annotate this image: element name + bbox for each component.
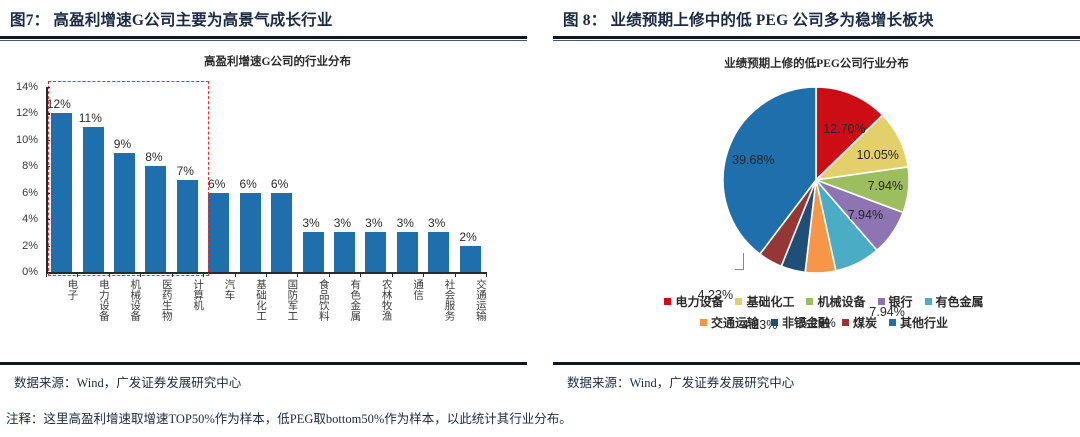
y-axis-tick: 8% (22, 160, 46, 172)
bar-rect (334, 232, 355, 272)
pie-chart: 12.70%10.05%7.94%7.94%7.94%5.29%4.23%4.2… (553, 75, 1080, 325)
figure-7-title-rule-thin (0, 40, 527, 41)
pie-value-label: 10.05% (857, 148, 899, 162)
bar-value-label: 9% (114, 137, 131, 151)
bar-rect (114, 153, 135, 272)
bar-value-label: 3% (334, 216, 351, 230)
bar-item: 2% (454, 87, 485, 272)
bar-item: 3% (329, 87, 360, 272)
legend-label: 非银金融 (782, 314, 830, 331)
x-axis-tick-mark (77, 272, 78, 277)
bar-rect (240, 193, 261, 272)
bar-item: 9% (109, 87, 140, 272)
x-axis-label: 农林牧渔 (360, 279, 391, 349)
figure-page: 图7： 高盈利增速G公司主要为高景气成长行业 高盈利增速G公司的行业分布 12%… (0, 0, 1080, 437)
bar-rect (208, 193, 229, 272)
bar-value-label: 6% (271, 177, 288, 191)
bar-item: 7% (172, 87, 203, 272)
x-axis-tick-mark (297, 272, 298, 277)
bar-item: 3% (423, 87, 454, 272)
x-axis-tick-mark (486, 272, 487, 277)
x-axis-label: 医药生物 (140, 279, 171, 349)
x-axis-label: 电力设备 (77, 279, 108, 349)
figure-8-title: 图 8： 业绩预期上修中的低 PEG 公司多为稳增长板块 (553, 0, 1080, 34)
legend-row: 交通运输非银金融煤炭其他行业 (609, 314, 1039, 331)
x-axis-label: 交通运输 (454, 279, 485, 349)
legend-row: 电力设备基础化工机械设备银行有色金属 (609, 293, 1039, 310)
figure-note: 注释：这里高盈利增速取增速TOP50%作为样本，低PEG取bottom50%作为… (6, 408, 572, 427)
pie-value-label: 7.94% (848, 208, 883, 222)
legend-item[interactable]: 基础化工 (735, 293, 794, 310)
legend-swatch (771, 319, 778, 326)
y-axis-tick: 6% (22, 187, 46, 199)
bar-chart-subtitle: 高盈利增速G公司的行业分布 (28, 53, 527, 69)
legend-item[interactable]: 非银金融 (771, 314, 830, 331)
x-axis-label: 机械设备 (109, 279, 140, 349)
bar-item: 6% (203, 87, 234, 272)
legend-item[interactable]: 银行 (878, 293, 913, 310)
x-axis-tick-mark (203, 272, 204, 277)
legend-swatch (889, 319, 896, 326)
legend-label: 交通运输 (711, 314, 759, 331)
pie-chart-svg (661, 77, 971, 287)
x-axis-tick-mark (423, 272, 424, 277)
bar-rect (271, 193, 292, 272)
y-axis-tick: 0% (22, 266, 46, 278)
x-axis-label: 国防军工 (266, 279, 297, 349)
legend-swatch (700, 319, 707, 326)
figure-8-title-rule-thin (553, 40, 1080, 41)
x-axis-tick-mark (109, 272, 110, 277)
pie-leader-line (735, 269, 744, 270)
legend-label: 银行 (889, 293, 913, 310)
figure-8-panel: 图 8： 业绩预期上修中的低 PEG 公司多为稳增长板块 业绩预期上修的低PEG… (553, 0, 1080, 437)
pie-value-label: 12.70% (823, 122, 865, 136)
bar-chart: 12%11%9%8%7%6%6%6%3%3%3%3%3%2% 电子电力设备机械设… (0, 79, 527, 349)
y-axis-tick: 12% (16, 107, 46, 119)
pie-value-label: 39.68% (732, 153, 774, 167)
bar-rect (365, 232, 386, 272)
figure-7-panel: 图7： 高盈利增速G公司主要为高景气成长行业 高盈利增速G公司的行业分布 12%… (0, 0, 527, 437)
pie-chart-legend: 电力设备基础化工机械设备银行有色金属交通运输非银金融煤炭其他行业 (609, 293, 1039, 335)
y-axis-tick: 10% (16, 134, 46, 146)
x-axis-label: 通信 (392, 279, 423, 349)
bar-rect (397, 232, 418, 272)
figure-8-title-rule-thick (553, 36, 1080, 39)
bar-value-label: 7% (177, 164, 194, 178)
bar-chart-plot-area: 12%11%9%8%7%6%6%6%3%3%3%3%3%2% (46, 87, 486, 272)
legend-label: 其他行业 (900, 314, 948, 331)
legend-swatch (842, 319, 849, 326)
bar-rect (428, 232, 449, 272)
legend-label: 电力设备 (675, 293, 723, 310)
bar-rect (83, 127, 104, 272)
legend-item[interactable]: 其他行业 (889, 314, 948, 331)
bar-item: 3% (360, 87, 391, 272)
legend-label: 基础化工 (746, 293, 794, 310)
bar-value-label: 6% (208, 177, 225, 191)
bar-value-label: 11% (79, 111, 102, 125)
bar-item: 8% (140, 87, 171, 272)
y-axis-tick: 4% (22, 213, 46, 225)
bar-rect (51, 113, 72, 272)
bar-rect (303, 232, 324, 272)
x-axis-tick-mark (392, 272, 393, 277)
x-axis-label: 有色金属 (329, 279, 360, 349)
figure-7-title-rule-thick (0, 36, 527, 39)
figure-8-source: 数据来源：Wind，广发证券发展研究中心 (567, 372, 794, 391)
x-axis-label: 社会服务 (423, 279, 454, 349)
x-axis-tick-mark (360, 272, 361, 277)
legend-item[interactable]: 机械设备 (806, 293, 865, 310)
x-axis-tick-mark (266, 272, 267, 277)
legend-swatch (878, 298, 885, 305)
x-axis-tick-mark (235, 272, 236, 277)
bar-rect (177, 180, 198, 273)
legend-swatch (664, 298, 671, 305)
legend-label: 机械设备 (817, 293, 865, 310)
x-axis-label: 汽车 (203, 279, 234, 349)
bar-value-label: 3% (428, 216, 445, 230)
y-axis-tick: 2% (22, 240, 46, 252)
bar-chart-x-labels: 电子电力设备机械设备医药生物计算机汽车基础化工国防军工食品饮料有色金属农林牧渔通… (46, 279, 486, 349)
pie-leader-line (743, 253, 744, 269)
legend-label: 煤炭 (853, 314, 877, 331)
bar-rect (145, 166, 166, 272)
x-axis-label: 电子 (46, 279, 77, 349)
bar-value-label: 3% (302, 216, 319, 230)
bar-item: 3% (392, 87, 423, 272)
bar-value-label: 3% (397, 216, 414, 230)
bar-value-label: 3% (365, 216, 382, 230)
x-axis-label: 计算机 (172, 279, 203, 349)
bar-item: 12% (46, 87, 77, 272)
bar-value-label: 6% (239, 177, 256, 191)
pie-value-label: 7.94% (868, 179, 903, 193)
figure-8-footer-rule (553, 362, 1080, 365)
legend-item[interactable]: 交通运输 (700, 314, 759, 331)
y-axis-tick: 14% (16, 81, 46, 93)
bar-item: 11% (77, 87, 108, 272)
figure-7-footer-rule (0, 362, 527, 365)
bar-value-label: 12% (47, 97, 71, 111)
bar-item: 6% (235, 87, 266, 272)
bar-item: 3% (297, 87, 328, 272)
bar-rect (460, 246, 481, 272)
figure-7-source: 数据来源：Wind，广发证券发展研究中心 (14, 372, 241, 391)
bar-value-label: 2% (459, 230, 476, 244)
legend-item[interactable]: 煤炭 (842, 314, 877, 331)
legend-label: 有色金属 (936, 293, 984, 310)
legend-swatch (925, 298, 932, 305)
legend-item[interactable]: 电力设备 (664, 293, 723, 310)
x-axis-tick-mark (329, 272, 330, 277)
x-axis-tick-mark (46, 272, 47, 277)
legend-item[interactable]: 有色金属 (925, 293, 984, 310)
legend-swatch (806, 298, 813, 305)
bar-item: 6% (266, 87, 297, 272)
x-axis-label: 基础化工 (235, 279, 266, 349)
x-axis-tick-mark (455, 272, 456, 277)
pie-chart-subtitle: 业绩预期上修的低PEG公司行业分布 (553, 55, 1080, 71)
bar-series: 12%11%9%8%7%6%6%6%3%3%3%3%3%2% (46, 87, 486, 272)
legend-swatch (735, 298, 742, 305)
bar-value-label: 8% (145, 150, 162, 164)
x-axis-tick-mark (140, 272, 141, 277)
figure-7-title: 图7： 高盈利增速G公司主要为高景气成长行业 (0, 0, 527, 34)
x-axis-label: 食品饮料 (297, 279, 328, 349)
x-axis-tick-mark (172, 272, 173, 277)
